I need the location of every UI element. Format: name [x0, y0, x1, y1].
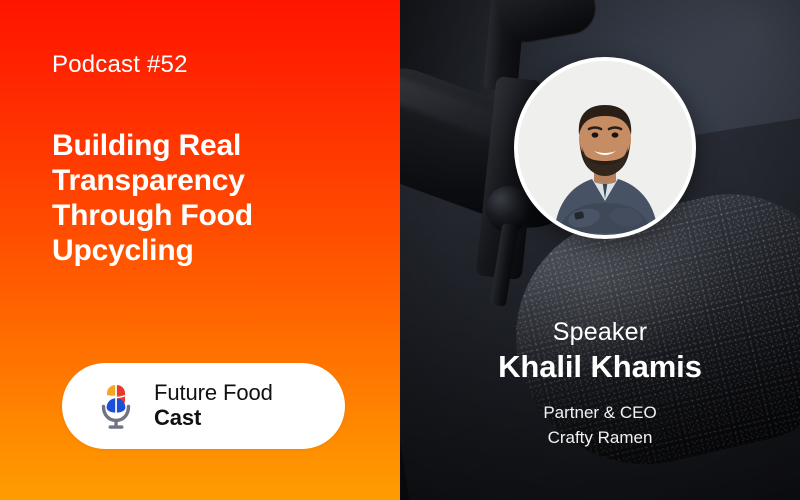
episode-title-line-2: Transparency — [52, 163, 352, 198]
episode-title: Building Real Transparency Through Food … — [52, 128, 352, 268]
speaker-company: Crafty Ramen — [400, 425, 800, 451]
speaker-credits: Speaker Khalil Khamis Partner & CEO Craf… — [400, 318, 800, 451]
speaker-avatar — [514, 57, 696, 239]
podcast-episode-card: Podcast #52 Building Real Transparency T… — [0, 0, 800, 500]
brand-name-line-2: Cast — [154, 406, 273, 431]
left-panel: Podcast #52 Building Real Transparency T… — [0, 0, 400, 500]
episode-title-line-1: Building Real — [52, 128, 352, 163]
speaker-photo — [518, 61, 692, 235]
episode-number-label: Podcast #52 — [52, 51, 188, 79]
podcast-brand-badge[interactable]: Future Food Cast — [62, 363, 345, 449]
speaker-role: Partner & CEO — [400, 400, 800, 426]
episode-title-line-4: Upcycling — [52, 233, 352, 268]
brand-name-line-1: Future Food — [154, 381, 273, 406]
episode-title-line-3: Through Food — [52, 198, 352, 233]
speaker-name: Khalil Khamis — [400, 348, 800, 386]
speaker-kicker-label: Speaker — [400, 318, 800, 346]
right-panel: Speaker Khalil Khamis Partner & CEO Craf… — [400, 0, 800, 500]
podcast-brand-name: Future Food Cast — [154, 381, 273, 430]
microphone-icon — [96, 382, 136, 430]
